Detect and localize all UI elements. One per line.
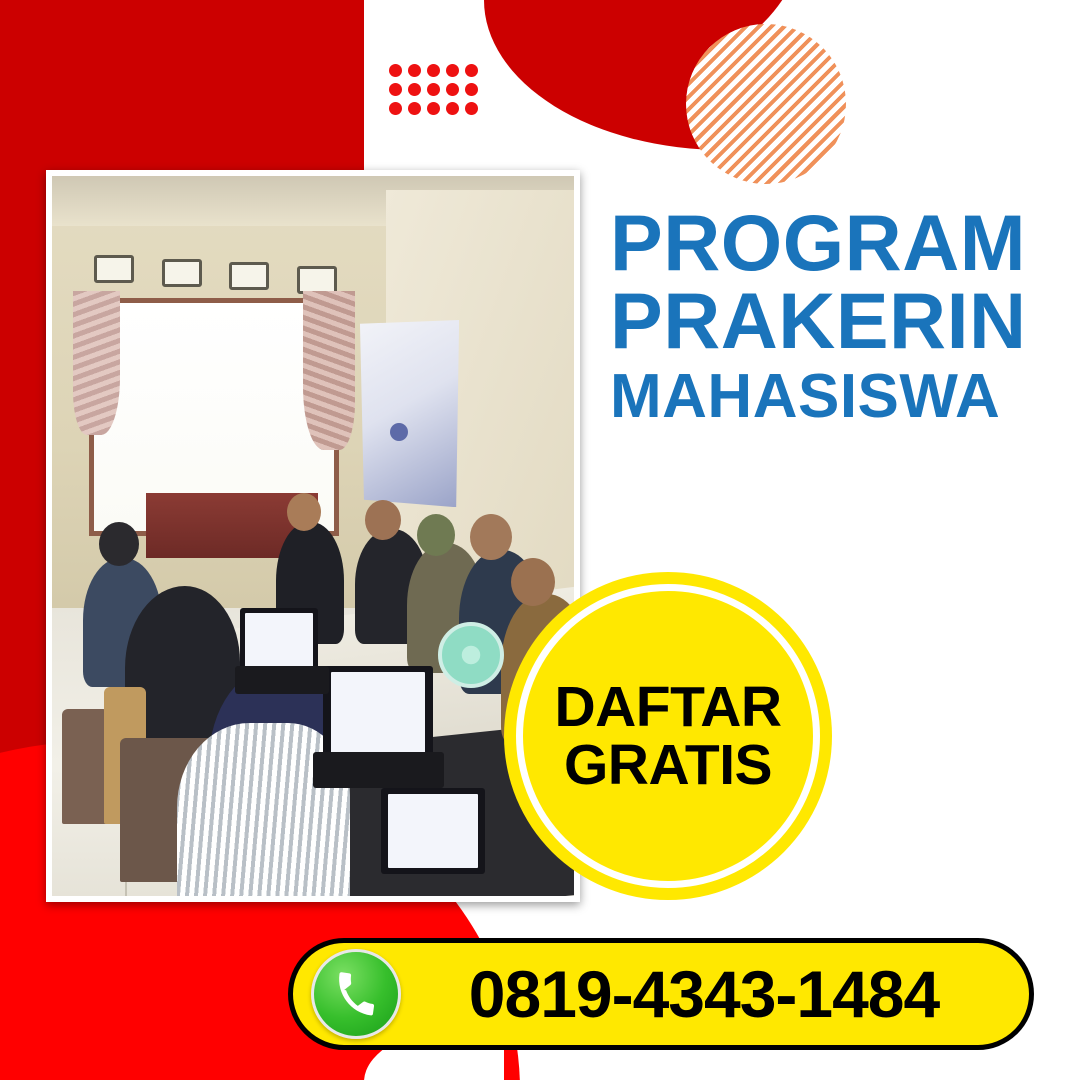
- photo-person-head: [511, 558, 555, 606]
- dot: [465, 83, 478, 96]
- photo-person-head: [99, 522, 139, 566]
- dot: [389, 102, 402, 115]
- photo-laptop-base: [313, 752, 444, 788]
- photo-wall-vent: [94, 255, 134, 283]
- promo-poster: PROGRAM PRAKERIN MAHASISWA DAFTAR GRATIS…: [0, 0, 1080, 1080]
- photo-wall-vent: [297, 266, 337, 294]
- photo-wall-vent: [162, 259, 202, 287]
- photo-curtain: [73, 291, 120, 435]
- dot: [427, 83, 440, 96]
- classroom-photo: [52, 176, 574, 896]
- classroom-photo-frame: [46, 170, 580, 902]
- dot: [408, 83, 421, 96]
- daftar-gratis-badge[interactable]: DAFTAR GRATIS: [504, 572, 832, 900]
- photo-curtain: [303, 291, 355, 449]
- photo-person-head: [470, 514, 512, 560]
- dot: [465, 64, 478, 77]
- badge-line-1: DAFTAR: [554, 678, 781, 736]
- photo-chair: [62, 709, 109, 824]
- phone-call-banner[interactable]: 0819-4343-1484: [288, 938, 1034, 1050]
- headline-block: PROGRAM PRAKERIN MAHASISWA: [610, 204, 1040, 428]
- badge-text: DAFTAR GRATIS: [554, 678, 781, 794]
- dot: [427, 64, 440, 77]
- photo-laptop-screen: [323, 666, 433, 760]
- phone-number-text: 0819-4343-1484: [401, 956, 1029, 1032]
- red-top-left-block: [0, 0, 364, 172]
- dot: [408, 64, 421, 77]
- photo-wall-vent: [229, 262, 269, 290]
- headline-line-2: PRAKERIN: [610, 282, 1040, 360]
- dot: [446, 64, 459, 77]
- photo-person-head: [287, 493, 321, 531]
- phone-handset-icon[interactable]: [311, 949, 401, 1039]
- photo-banner: [360, 320, 459, 507]
- headline-line-3: MAHASISWA: [610, 366, 1040, 427]
- dot: [389, 83, 402, 96]
- dot: [408, 102, 421, 115]
- dot-grid-icon: [389, 64, 478, 115]
- headline-line-1: PROGRAM: [610, 204, 1040, 282]
- dot: [446, 83, 459, 96]
- dot: [427, 102, 440, 115]
- photo-laptop-screen: [381, 788, 485, 874]
- photo-laptop-screen: [240, 608, 318, 673]
- dot: [446, 102, 459, 115]
- dot: [465, 102, 478, 115]
- dot: [389, 64, 402, 77]
- badge-line-2: GRATIS: [554, 736, 781, 794]
- striped-circle-icon: [686, 24, 846, 184]
- photo-person-head: [365, 500, 401, 540]
- photo-laptop-base: [235, 666, 329, 695]
